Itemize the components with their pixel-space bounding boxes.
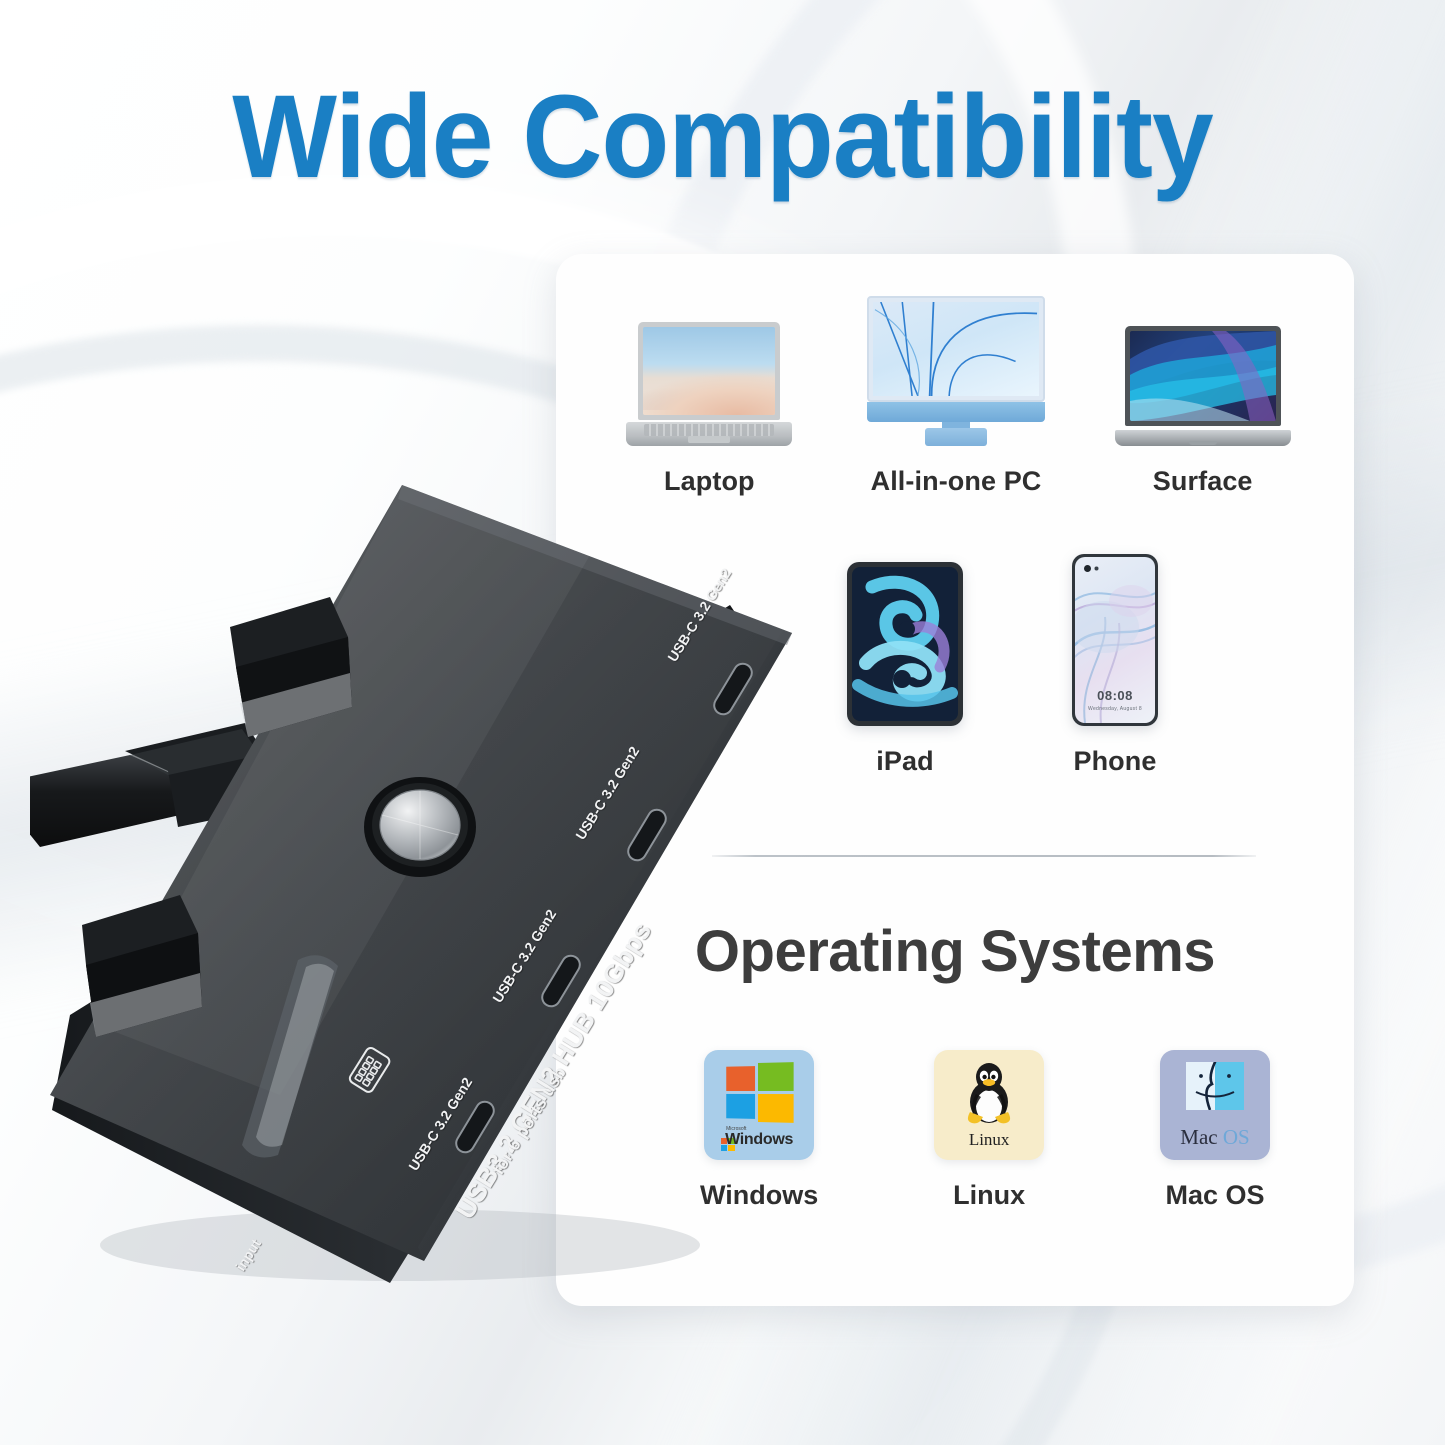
device-label: iPad: [876, 746, 933, 777]
device-label: Surface: [1153, 466, 1253, 497]
os-item-linux: Linux Linux: [934, 1050, 1044, 1211]
device-label: All-in-one PC: [871, 466, 1042, 497]
phone-lock-date: Wednesday, August 8: [1075, 706, 1155, 712]
macos-finder-icon: Mac OS: [1160, 1050, 1270, 1160]
phone-lock-time: 08:08: [1075, 688, 1155, 703]
os-label: Mac OS: [1165, 1180, 1264, 1211]
device-item-phone: 08:08 Wednesday, August 8 Phone: [1010, 548, 1220, 777]
all-in-one-pc-icon: [867, 278, 1045, 446]
linux-tux-icon: Linux: [934, 1050, 1044, 1160]
usb-hub-illustration: [30, 455, 830, 1285]
product-feature-image: Wide Compatibility Laptop: [0, 0, 1445, 1445]
os-label: Linux: [953, 1180, 1025, 1211]
phone-icon: 08:08 Wednesday, August 8: [1072, 548, 1158, 726]
page-title: Wide Compatibility: [43, 78, 1401, 196]
device-row-secondary: iPad 08:08 Wedne: [800, 548, 1220, 777]
device-item-ipad: iPad: [800, 548, 1010, 777]
device-item-all-in-one-pc: All-in-one PC: [833, 278, 1080, 497]
macos-brand-os: OS: [1223, 1125, 1250, 1149]
linux-brand-mark: Linux: [934, 1130, 1044, 1150]
os-item-macos: Mac OS Mac OS: [1160, 1050, 1270, 1211]
device-label: Phone: [1073, 746, 1156, 777]
device-item-surface: Surface: [1079, 278, 1326, 497]
laptop-icon: [626, 278, 792, 446]
product-image-usb-hub: USB3.2 GEN2 HUB 10Gbps for 6 ports usb i…: [30, 455, 830, 1285]
ipad-icon: [847, 548, 963, 726]
surface-laptop-icon: [1115, 278, 1291, 446]
macos-brand-mac: Mac: [1180, 1125, 1217, 1149]
macos-brand-mark: Mac OS: [1160, 1125, 1270, 1150]
